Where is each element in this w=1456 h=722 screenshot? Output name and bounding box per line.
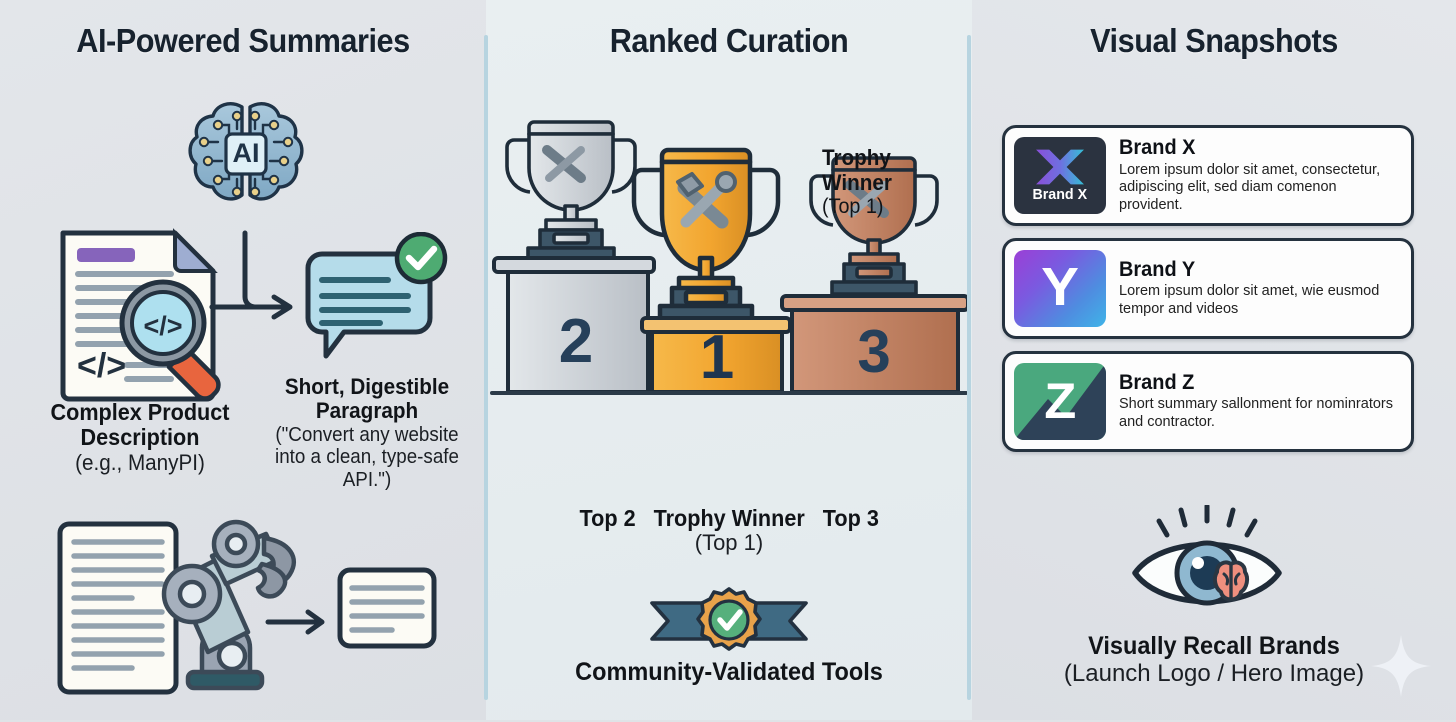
check-badge-icon [397,234,445,282]
panel-ai-powered-summaries: AI-Powered Summaries [0,0,486,720]
podium-label-1: Trophy Winner [653,505,804,532]
rosette-badge-icon [646,585,812,655]
panel-title-middle: Ranked Curation [503,22,955,60]
speech-bubble-icon [296,232,456,360]
panel-title-left: AI-Powered Summaries [17,22,469,60]
brand-x-logo-tile: Brand X [1014,137,1106,214]
eye-icon [1107,505,1307,620]
panel-title-right: Visual Snapshots [989,22,1439,60]
brand-z-logo-tile: Z [1014,363,1106,440]
complex-product-sublabel: (e.g., ManyPI) [16,451,264,475]
panel-visual-snapshots: Visual Snapshots Brand [972,0,1456,720]
brand-y-logo-tile: Y [1014,250,1106,327]
brand-y-description: Lorem ipsum dolor sit amet, wie eusmod t… [1119,283,1398,318]
panel-ranked-curation: Ranked Curation [486,0,972,720]
brand-card-y[interactable]: Y Brand Y Lorem ipsum dolor sit amet, wi… [1002,238,1414,339]
brand-card-z[interactable]: Z Brand Z Short summary sallonment for n… [1002,351,1414,452]
podium-label-2: Top 2 [579,505,635,532]
brand-card-x[interactable]: Brand X Brand X Lorem ipsum dolor sit am… [1002,125,1414,226]
podium-number-2: 2 [559,307,593,376]
brand-x-text: Brand X Lorem ipsum dolor sit amet, cons… [1119,137,1398,214]
brand-z-mark: Z [1044,376,1076,426]
short-paragraph-sublabel: ("Convert any website into a clean, type… [268,424,465,492]
brand-x-mark [1031,148,1089,186]
community-validated-caption: Community-Validated Tools [501,658,958,687]
podium-labels: Top 2 Trophy Winner Top 3 (Top 1) [486,505,972,556]
brand-z-title: Brand Z [1119,372,1384,395]
podium-number-1: 1 [700,323,734,392]
sparkle-icon [1371,635,1431,697]
brain-chip-label: AI [233,138,260,168]
brand-x-title: Brand X [1119,137,1384,160]
complex-product-label: Complex Product Description (e.g., ManyP… [16,400,264,475]
trophy-icon-silver [507,122,635,260]
brand-z-description: Short summary sallonment for nominrators… [1119,396,1398,431]
podium-label-3: Top 3 [823,505,879,532]
svg-text:</>: </> [143,311,182,341]
brand-x-description: Lorem ipsum dolor sit amet, consectetur,… [1119,162,1398,214]
brand-y-title: Brand Y [1119,259,1384,282]
brand-y-mark: Y [1041,260,1079,314]
podium-label-1-sub: (Top 1) [486,530,972,556]
panel-divider-left [484,35,488,700]
brain-icon: AI [180,95,312,213]
brand-z-text: Brand Z Short summary sallonment for nom… [1119,372,1398,431]
brain-icon-small [1215,562,1247,600]
trophy-winner-callout: Trophy Winner (Top 1) [822,146,940,219]
brand-x-tile-caption: Brand X [1033,186,1088,203]
infographic-board: AI-Powered Summaries [0,0,1456,720]
brand-y-text: Brand Y Lorem ipsum dolor sit amet, wie … [1119,259,1398,318]
podium-number-3: 3 [857,318,890,385]
robot-arm-icon [40,512,480,717]
short-paragraph-label: Short, Digestible Paragraph ("Convert an… [268,375,465,492]
document-code-glyph: </> [77,347,126,385]
brand-card-list: Brand X Brand X Lorem ipsum dolor sit am… [1002,125,1414,464]
panel-divider-right [967,35,971,700]
